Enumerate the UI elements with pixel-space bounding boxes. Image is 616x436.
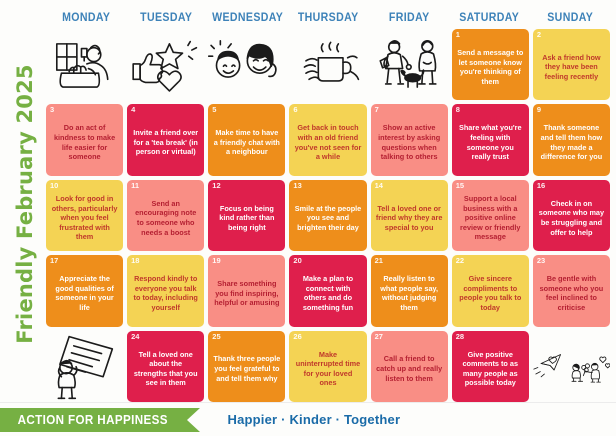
day-action-text: Do an act of kindness to make life easie… <box>50 117 119 162</box>
day-action-text: Respond kindly to everyone you talk to t… <box>131 268 200 313</box>
day-header-saturday: SATURDAY <box>454 12 524 24</box>
calendar-week-row: 1Send a message to let someone know you'… <box>46 29 610 100</box>
calendar-day-cell-20[interactable]: 20Make a plan to connect with others and… <box>289 255 366 326</box>
day-header-friday: FRIDAY <box>374 12 444 24</box>
day-action-text: Make a plan to connect with others and d… <box>293 268 362 313</box>
calendar-day-cell-4[interactable]: 4Invite a friend over for a 'tea break' … <box>127 104 204 175</box>
day-action-text: Send a message to let someone know you'r… <box>456 42 525 87</box>
day-action-text: Tell a loved one about the strengths tha… <box>131 344 200 389</box>
day-number: 13 <box>293 182 301 190</box>
day-number: 21 <box>375 257 383 265</box>
calendar-day-cell-26[interactable]: 26Make uninterrupted time for your loved… <box>289 331 366 402</box>
calendar-day-cell-19[interactable]: 19Share something you find inspiring, he… <box>208 255 285 326</box>
calendar-day-cell-23[interactable]: 23Be gentle with someone who you feel in… <box>533 255 610 326</box>
day-action-text: Focus on being kind rather than being ri… <box>212 198 281 233</box>
day-number: 9 <box>537 106 541 114</box>
calendar-day-cell-24[interactable]: 24Tell a loved one about the strengths t… <box>127 331 204 402</box>
footer: ACTION FOR HAPPINESS Happier · Kinder · … <box>0 402 616 436</box>
calendar-day-cell-15[interactable]: 15Support a local business with a positi… <box>452 180 529 251</box>
day-action-text: Invite a friend over for a 'tea break' (… <box>131 122 200 157</box>
day-number: 1 <box>456 31 460 39</box>
day-number: 4 <box>131 106 135 114</box>
day-action-text: Make time to have a friendly chat with a… <box>212 122 281 157</box>
day-header-sunday: SUNDAY <box>535 12 605 24</box>
day-action-text: Send an encouraging note to someone who … <box>131 193 200 238</box>
day-number: 2 <box>537 31 541 39</box>
calendar-day-cell-8[interactable]: 8Share what you're feeling with someone … <box>452 104 529 175</box>
calendar-day-cell-11[interactable]: 11Send an encouraging note to someone wh… <box>127 180 204 251</box>
calendar-day-cell-18[interactable]: 18Respond kindly to everyone you talk to… <box>127 255 204 326</box>
day-number: 5 <box>212 106 216 114</box>
day-number: 20 <box>293 257 301 265</box>
day-action-text: Share something you find inspiring, help… <box>212 273 281 308</box>
title-rail: Friendly February 2025 <box>4 6 46 402</box>
day-number: 3 <box>50 106 54 114</box>
day-action-text: Appreciate the good qualities of someone… <box>50 268 119 313</box>
calendar-day-cell-12[interactable]: 12Focus on being kind rather than being … <box>208 180 285 251</box>
day-action-text: Ask a friend how they have been feeling … <box>537 47 606 82</box>
day-header-tuesday: TUESDAY <box>131 12 201 24</box>
day-header-thursday: THURSDAY <box>293 12 363 24</box>
day-number: 22 <box>456 257 464 265</box>
page-title: Friendly February 2025 <box>13 64 37 343</box>
day-number: 8 <box>456 106 460 114</box>
day-number: 10 <box>50 182 58 190</box>
day-number: 23 <box>537 257 545 265</box>
calendar-body: Friendly February 2025 MONDAYTUESDAYWEDN… <box>0 0 616 402</box>
paper-plane-heart-and-flowers-icon <box>533 331 610 402</box>
hands-holding-mug-icon <box>289 29 366 100</box>
friendly-february-calendar-page: Friendly February 2025 MONDAYTUESDAYWEDN… <box>0 0 616 436</box>
calendar-day-cell-6[interactable]: 6Get back in touch with an old friend yo… <box>289 104 366 175</box>
calendar-weeks: 1Send a message to let someone know you'… <box>46 29 610 402</box>
calendar-day-cell-7[interactable]: 7Show an active interest by asking quest… <box>371 104 448 175</box>
calendar-week-row: 17Appreciate the good qualities of someo… <box>46 255 610 326</box>
day-action-text: Give sincere compliments to people you t… <box>456 268 525 313</box>
day-action-text: Call a friend to catch up and really lis… <box>375 348 444 383</box>
day-number: 12 <box>212 182 220 190</box>
day-of-week-header-row: MONDAYTUESDAYWEDNESDAYTHURSDAYFRIDAYSATU… <box>46 6 610 29</box>
day-action-text: Make uninterrupted time for your loved o… <box>293 344 362 389</box>
person-at-window-icon <box>46 29 123 100</box>
brand-tagline: Happier · Kinder · Together <box>228 412 401 427</box>
day-action-text: Thank someone and tell them how they mad… <box>537 117 606 162</box>
day-action-text: Look for good in others, particularly wh… <box>50 188 119 242</box>
day-number: 28 <box>456 333 464 341</box>
calendar-day-cell-13[interactable]: 13Smile at the people you see and bright… <box>289 180 366 251</box>
brand-banner: ACTION FOR HAPPINESS <box>0 408 200 432</box>
calendar-day-cell-17[interactable]: 17Appreciate the good qualities of someo… <box>46 255 123 326</box>
day-action-text: Smile at the people you see and brighten… <box>293 198 362 233</box>
day-action-text: Give positive comments to as many people… <box>456 344 525 389</box>
day-number: 26 <box>293 333 301 341</box>
day-number: 18 <box>131 257 139 265</box>
day-number: 27 <box>375 333 383 341</box>
day-action-text: Tell a loved one or friend why they are … <box>375 198 444 233</box>
day-number: 11 <box>131 182 139 190</box>
day-action-text: Support a local business with a positive… <box>456 188 525 242</box>
calendar-day-cell-22[interactable]: 22Give sincere compliments to people you… <box>452 255 529 326</box>
day-action-text: Really listen to what people say, withou… <box>375 268 444 313</box>
calendar-day-cell-3[interactable]: 3Do an act of kindness to make life easi… <box>46 104 123 175</box>
calendar-week-row: 10Look for good in others, particularly … <box>46 180 610 251</box>
calendar-day-cell-2[interactable]: 2Ask a friend how they have been feeling… <box>533 29 610 100</box>
day-number: 24 <box>131 333 139 341</box>
calendar-day-cell-1[interactable]: 1Send a message to let someone know you'… <box>452 29 529 100</box>
calendar-day-cell-5[interactable]: 5Make time to have a friendly chat with … <box>208 104 285 175</box>
day-header-wednesday: WEDNESDAY <box>212 12 283 24</box>
calendar-day-cell-27[interactable]: 27Call a friend to catch up and really l… <box>371 331 448 402</box>
day-number: 25 <box>212 333 220 341</box>
calendar-day-cell-25[interactable]: 25Thank three people you feel grateful t… <box>208 331 285 402</box>
calendar-week-row: 24Tell a loved one about the strengths t… <box>46 331 610 402</box>
person-reading-letter-icon <box>46 331 123 402</box>
calendar-week-row: 3Do an act of kindness to make life easi… <box>46 104 610 175</box>
day-action-text: Share what you're feeling with someone y… <box>456 117 525 162</box>
calendar-day-cell-10[interactable]: 10Look for good in others, particularly … <box>46 180 123 251</box>
day-action-text: Show an active interest by asking questi… <box>375 117 444 162</box>
day-number: 7 <box>375 106 379 114</box>
day-action-text: Be gentle with someone who you feel incl… <box>537 268 606 313</box>
brand-name: ACTION FOR HAPPINESS <box>18 413 168 427</box>
calendar-grid: MONDAYTUESDAYWEDNESDAYTHURSDAYFRIDAYSATU… <box>46 6 610 402</box>
calendar-day-cell-9[interactable]: 9Thank someone and tell them how they ma… <box>533 104 610 175</box>
calendar-day-cell-21[interactable]: 21Really listen to what people say, with… <box>371 255 448 326</box>
day-number: 15 <box>456 182 464 190</box>
day-number: 6 <box>293 106 297 114</box>
day-number: 17 <box>50 257 58 265</box>
day-action-text: Check in on someone who may be strugglin… <box>537 193 606 238</box>
calendar-day-cell-14[interactable]: 14Tell a loved one or friend why they ar… <box>371 180 448 251</box>
day-header-monday: MONDAY <box>51 12 121 24</box>
day-action-text: Thank three people you feel grateful to … <box>212 348 281 383</box>
calendar-day-cell-28[interactable]: 28Give positive comments to as many peop… <box>452 331 529 402</box>
day-number: 16 <box>537 182 545 190</box>
two-faces-icon <box>208 29 285 100</box>
thumbs-up-star-heart-icon <box>127 29 204 100</box>
day-number: 19 <box>212 257 220 265</box>
calendar-day-cell-16[interactable]: 16Check in on someone who may be struggl… <box>533 180 610 251</box>
two-people-with-dog-icon <box>371 29 448 100</box>
day-number: 14 <box>375 182 383 190</box>
day-action-text: Get back in touch with an old friend you… <box>293 117 362 162</box>
